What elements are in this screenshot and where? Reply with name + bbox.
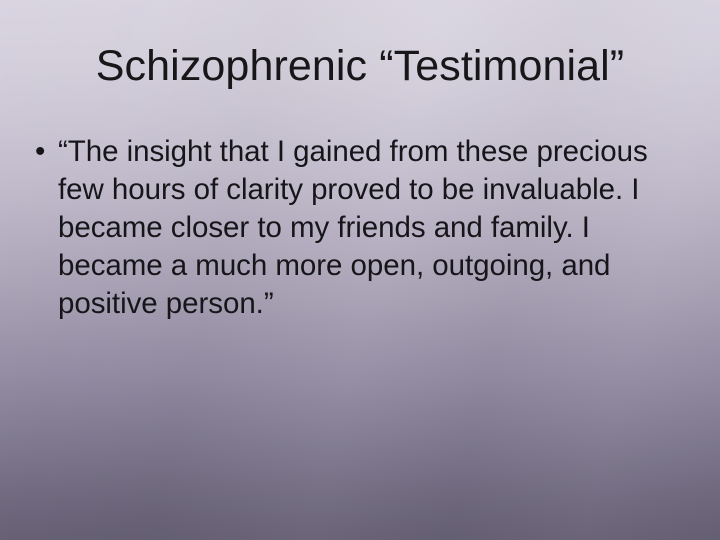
slide-content: Schizophrenic “Testimonial” • “The insig… <box>0 0 720 540</box>
slide-title: Schizophrenic “Testimonial” <box>40 40 680 92</box>
presentation-slide: Schizophrenic “Testimonial” • “The insig… <box>0 0 720 540</box>
bullet-list: • “The insight that I gained from these … <box>30 133 680 323</box>
list-item: • “The insight that I gained from these … <box>30 133 680 323</box>
bullet-dot-icon: • <box>35 133 55 171</box>
title-placeholder: Schizophrenic “Testimonial” <box>40 40 680 92</box>
body-placeholder: • “The insight that I gained from these … <box>30 133 680 323</box>
bullet-item-text: “The insight that I gained from these pr… <box>58 133 680 323</box>
